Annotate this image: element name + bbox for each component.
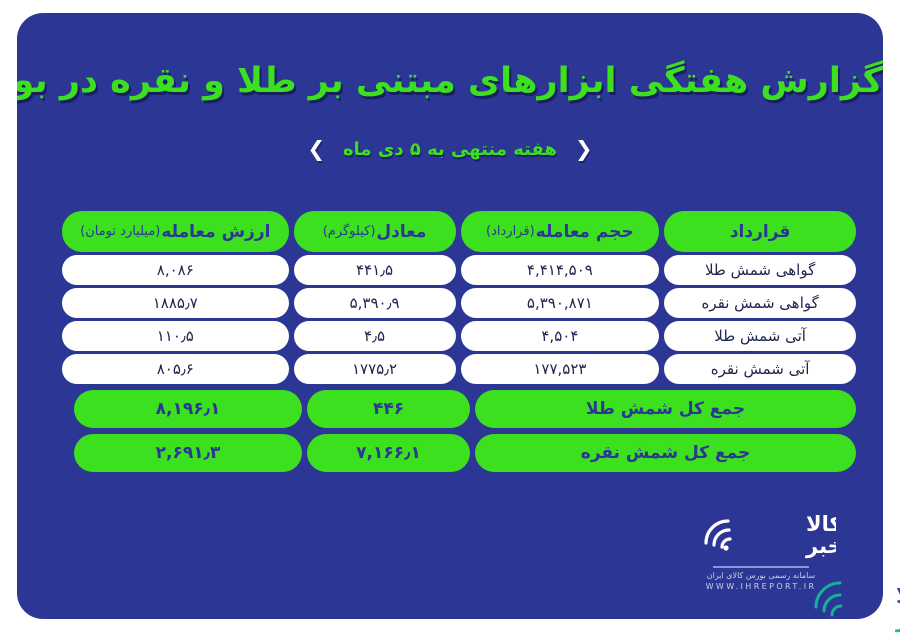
table-row: گواهی شمش طلا ۴,۴۱۴,۵۰۹ ۴۴۱٫۵ ۸,۰۸۶ — [62, 255, 856, 285]
cell-volume: ۴,۴۱۴,۵۰۹ — [461, 255, 660, 285]
total-value-gold: ۸,۱۹۶٫۱ — [74, 390, 302, 428]
total-equivalent-gold: ۴۴۶ — [307, 390, 470, 428]
cell-value: ۸,۰۸۶ — [62, 255, 289, 285]
logo-brand-top: کالا — [806, 512, 836, 536]
cell-equivalent: ۴٫۵ — [294, 321, 456, 351]
cell-contract: آتی شمش نقره — [664, 354, 856, 384]
table-row: آتی شمش طلا ۴,۵۰۴ ۴٫۵ ۱۱۰٫۵ — [62, 321, 856, 351]
subtitle-text: هفته منتهی به ۵ دی ماه — [343, 139, 557, 160]
column-header-contract-label: قرارداد — [730, 222, 791, 242]
column-header-value: ارزش معامله(میلیارد تومان) — [62, 211, 289, 252]
column-header-equivalent: معادل(کیلوگرم) — [294, 211, 456, 252]
total-value-silver: ۲,۶۹۱٫۳ — [74, 434, 302, 472]
watermark-brand-bottom: خبر — [895, 608, 900, 633]
cell-contract: آتی شمش طلا — [664, 321, 856, 351]
total-label-silver: جمع کل شمش نقره — [475, 434, 856, 472]
cell-value: ۱۱۰٫۵ — [62, 321, 289, 351]
cell-value: ۱۸۸۵٫۷ — [62, 288, 289, 318]
total-row-silver: جمع کل شمش نقره ۷,۱۶۶٫۱ ۲,۶۹۱٫۳ — [62, 434, 856, 472]
cell-equivalent: ۴۴۱٫۵ — [294, 255, 456, 285]
title-block: گزارش هفتگی ابزارهای مبتنی بر طلا و نقره… — [17, 59, 883, 104]
infographic-canvas: گزارش هفتگی ابزارهای مبتنی بر طلا و نقره… — [0, 0, 900, 631]
total-row-gold: جمع کل شمش طلا ۴۴۶ ۸,۱۹۶٫۱ — [62, 390, 856, 428]
total-label-gold: جمع کل شمش طلا — [475, 390, 856, 428]
logo-url: WWW.IHREPORT.IR — [681, 582, 841, 591]
column-header-volume-label: حجم معامله — [536, 222, 634, 242]
page-title: گزارش هفتگی ابزارهای مبتنی بر طلا و نقره… — [17, 59, 883, 104]
report-table: قرارداد حجم معامله (قرارداد) معادل(کیلوگ… — [62, 211, 856, 477]
total-equivalent-silver: ۷,۱۶۶٫۱ — [307, 434, 470, 472]
cell-contract: گواهی شمش طلا — [664, 255, 856, 285]
logo-tagline: سامانه رسمی بورس کالای ایران — [681, 571, 841, 581]
logo-brand-bottom: خبر — [805, 534, 836, 558]
chevron-right-icon: ❯ — [307, 139, 325, 160]
cell-contract: گواهی شمش نقره — [664, 288, 856, 318]
cell-volume: ۴,۵۰۴ — [461, 321, 660, 351]
column-header-equivalent-unit: (کیلوگرم) — [323, 224, 376, 239]
column-header-value-unit: (میلیارد تومان) — [80, 224, 160, 239]
cell-equivalent: ۵,۳۹۰٫۹ — [294, 288, 456, 318]
brand-logo: کالا خبر سامانه رسمی بورس کالای ایران WW… — [681, 505, 841, 591]
table-row: آتی شمش نقره ۱۷۷,۵۲۳ ۱۷۷۵٫۲ ۸۰۵٫۶ — [62, 354, 856, 384]
cell-volume: ۱۷۷,۵۲۳ — [461, 354, 660, 384]
column-header-volume: حجم معامله (قرارداد) — [461, 211, 660, 252]
column-header-value-label: ارزش معامله — [161, 222, 270, 242]
cell-equivalent: ۱۷۷۵٫۲ — [294, 354, 456, 384]
chevron-left-icon: ❮ — [575, 139, 593, 160]
infographic-panel: گزارش هفتگی ابزارهای مبتنی بر طلا و نقره… — [17, 13, 883, 619]
watermark-brand-top: کالا — [896, 584, 900, 609]
column-header-equivalent-label: معادل — [376, 222, 426, 242]
cell-volume: ۵,۳۹۰,۸۷۱ — [461, 288, 660, 318]
logo-dot — [723, 545, 728, 550]
kalakhabar-logo-icon: کالا خبر — [686, 505, 836, 561]
cell-value: ۸۰۵٫۶ — [62, 354, 289, 384]
subtitle-block: ❮ هفته منتهی به ۵ دی ماه ❯ — [17, 139, 883, 160]
column-header-contract: قرارداد — [664, 211, 856, 252]
table-row: گواهی شمش نقره ۵,۳۹۰,۸۷۱ ۵,۳۹۰٫۹ ۱۸۸۵٫۷ — [62, 288, 856, 318]
column-header-volume-unit: (قرارداد) — [486, 224, 535, 239]
table-header-row: قرارداد حجم معامله (قرارداد) معادل(کیلوگ… — [62, 211, 856, 252]
logo-divider — [713, 566, 809, 568]
